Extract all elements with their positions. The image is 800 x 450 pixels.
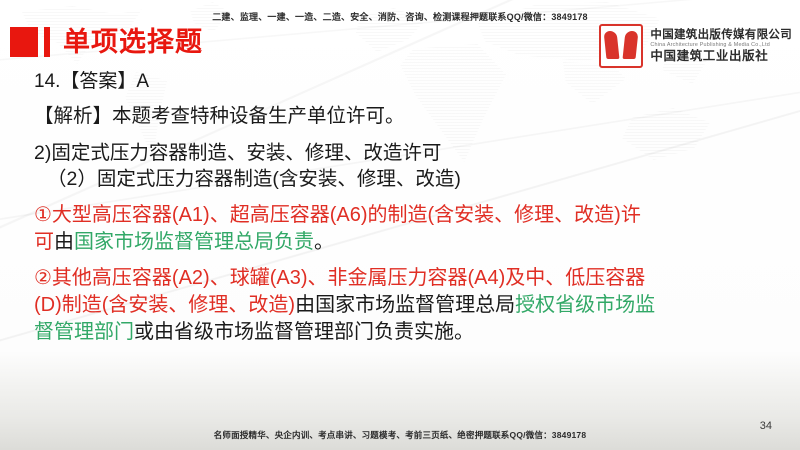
clause-1-red-text-b: 可 [34, 231, 54, 253]
publisher-logo: 中国建筑出版传媒有限公司 China Architecture Publishi… [599, 24, 792, 68]
clause-1-black-text-e: 。 [314, 231, 334, 253]
header-contact-text: 二建、监理、一建、一造、二造、安全、消防、咨询、检测课程押题联系QQ/微信：38… [0, 10, 800, 23]
clause-2-black-text-c: 由国家市场监督管理总局 [295, 294, 515, 316]
publisher-logo-text: 中国建筑出版传媒有限公司 China Architecture Publishi… [650, 29, 792, 64]
page-title: 单项选择题 [10, 27, 203, 57]
publisher-press-cn: 中国建筑工业出版社 [650, 49, 792, 63]
clause-2-green-text-d: 授权省级市场监 [515, 294, 655, 316]
footer-contact-text: 名师面授精华、央企内训、考点串讲、习题模考、考前三页纸、绝密押题联系QQ/微信：… [0, 429, 800, 441]
clause-1-line-1: ①大型高压容器(A1)、超高压容器(A6)的制造(含安装、修理、改造)许 [34, 205, 774, 225]
clause-2-red-text-a: ②其他高压容器(A2)、球罐(A3)、非金属压力容器(A4)及中、低压容器 [34, 267, 645, 289]
clause-1-green-text-d: 国家市场监督管理总局负责 [74, 231, 314, 253]
publisher-company-en: China Architecture Publishing & Media Co… [650, 42, 792, 48]
sub-item-2-line: （2）固定式压力容器制造(含安装、修理、改造) [34, 170, 774, 190]
slide-body: 14.【答案】A 【解析】本题考查特种设备生产单位许可。 2)固定式压力容器制造… [34, 72, 774, 342]
page-title-label: 单项选择题 [63, 29, 203, 56]
analysis-line: 【解析】本题考查特种设备生产单位许可。 [34, 107, 774, 127]
clause-2-line-3: 督管理部门或由省级市场监督管理部门负责实施。 [34, 322, 774, 342]
title-bar-icon [44, 27, 50, 57]
clause-2-black-text-f: 或由省级市场监督管理部门负责实施。 [134, 321, 474, 343]
page-number: 34 [760, 420, 772, 432]
clause-1-black-text-c: 由 [54, 231, 74, 253]
clause-1-red-text-a: ①大型高压容器(A1)、超高压容器(A6)的制造(含安装、修理、改造)许 [34, 204, 641, 226]
publisher-company-cn: 中国建筑出版传媒有限公司 [650, 29, 792, 42]
clause-2-line-2: (D)制造(含安装、修理、改造)由国家市场监督管理总局授权省级市场监 [34, 295, 774, 315]
title-square-icon [10, 27, 38, 57]
item-2-line: 2)固定式压力容器制造、安装、修理、改造许可 [34, 144, 774, 164]
clause-1-line-2: 可由国家市场监督管理总局负责。 [34, 232, 774, 252]
clause-2-red-text-b: (D)制造(含安装、修理、改造) [34, 294, 295, 316]
answer-line: 14.【答案】A [34, 72, 774, 91]
publisher-logo-icon [599, 24, 643, 68]
clause-2-line-1: ②其他高压容器(A2)、球罐(A3)、非金属压力容器(A4)及中、低压容器 [34, 268, 774, 288]
slide-root: 二建、监理、一建、一造、二造、安全、消防、咨询、检测课程押题联系QQ/微信：38… [0, 0, 800, 450]
clause-2-green-text-e: 督管理部门 [34, 321, 134, 343]
